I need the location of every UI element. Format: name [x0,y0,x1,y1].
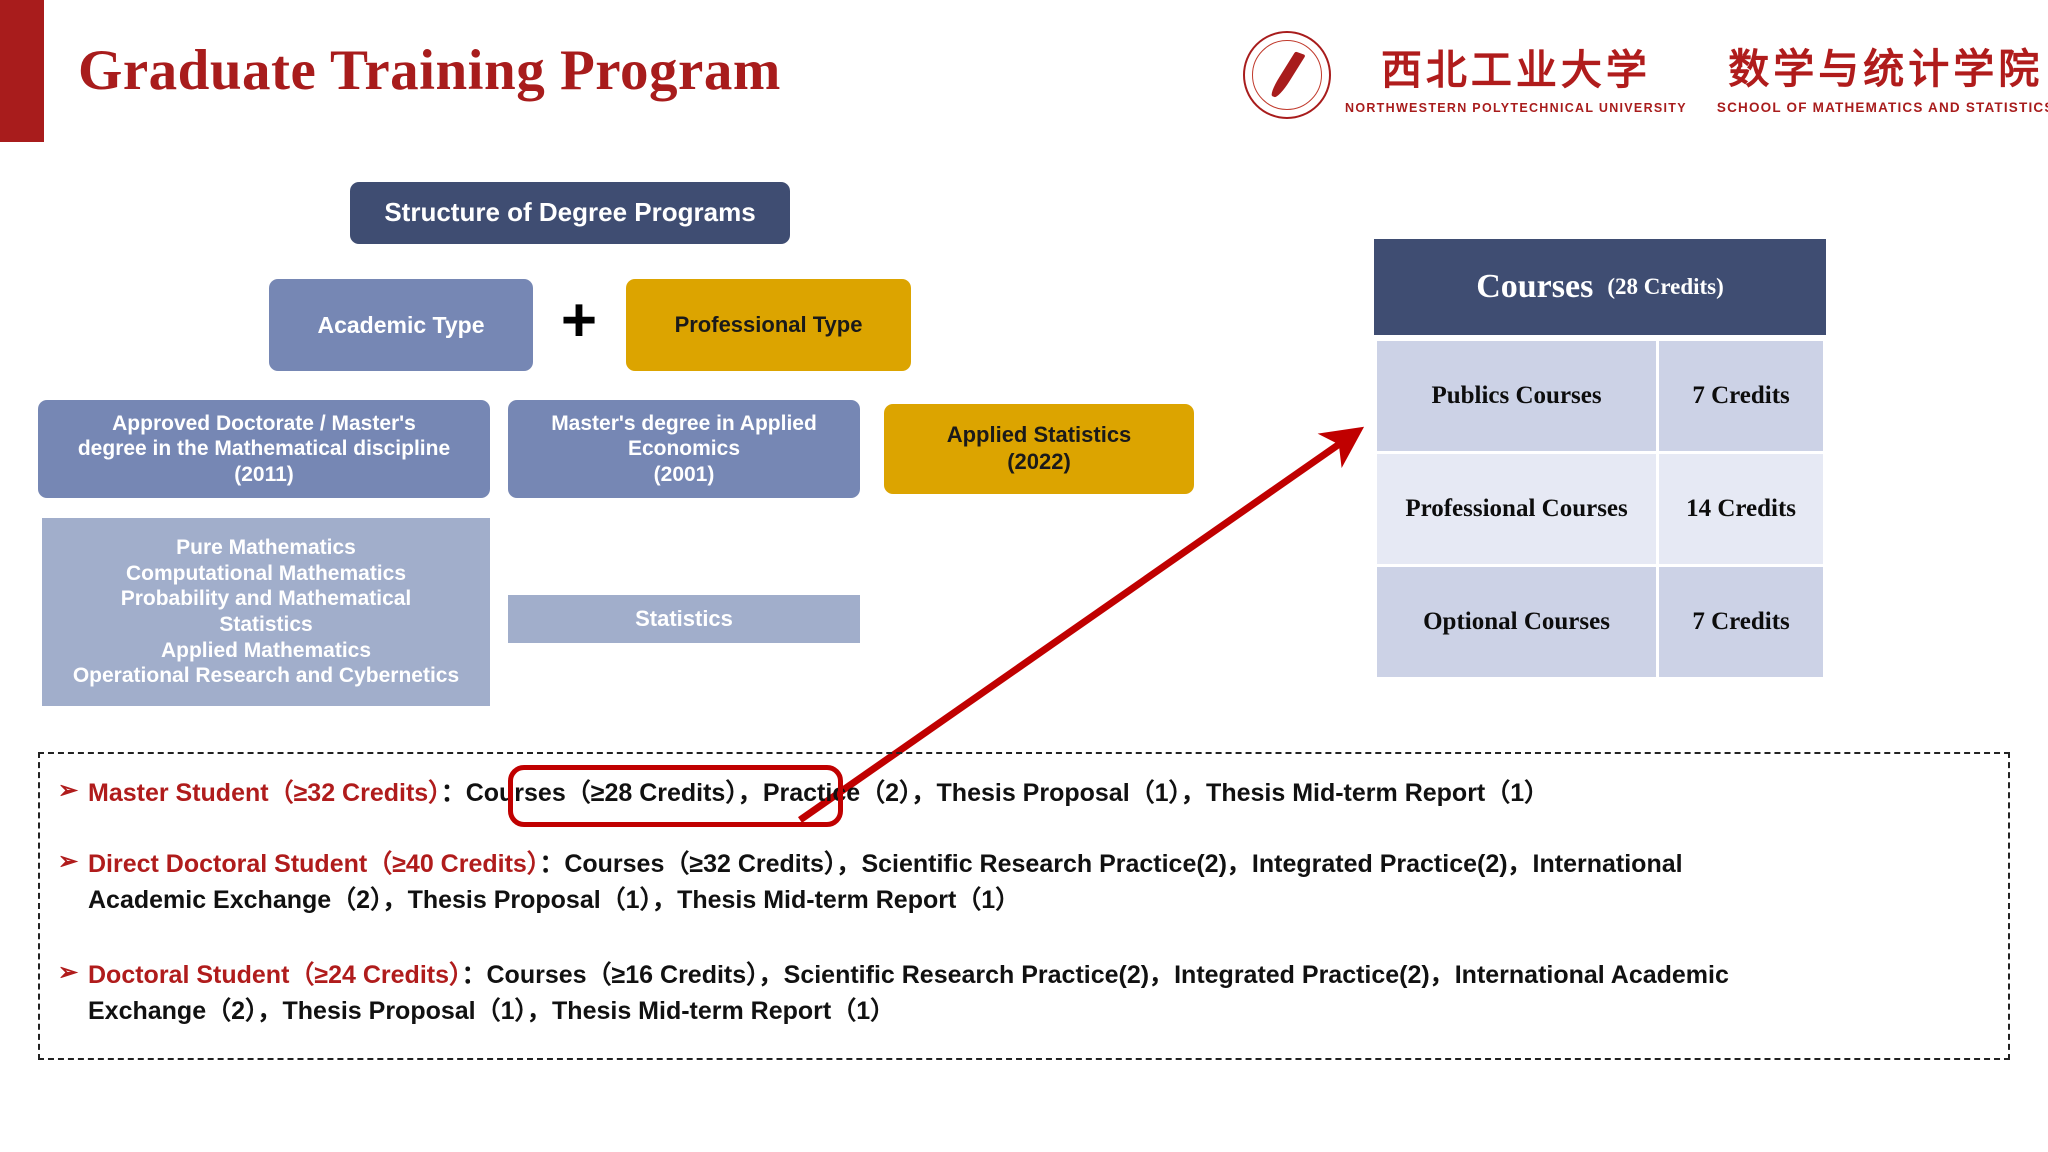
bullet-arrow-icon: ➢ [58,846,88,919]
requirement-detail: ：Courses（≥32 Credits），Scientific Researc… [539,850,1682,878]
requirement-item-direct-doctoral: ➢ Direct Doctoral Student（≥40 Credits）：C… [58,846,1958,919]
school-name-en: SCHOOL OF MATHEMATICS AND STATISTICS [1717,100,2048,115]
course-category: Optional Courses [1377,567,1656,677]
requirement-detail: ：Courses（≥16 Credits），Scientific Researc… [462,961,1729,989]
bullet-arrow-icon: ➢ [58,957,88,1030]
requirement-text: Doctoral Student（≥24 Credits）：Courses（≥1… [88,957,1729,1030]
branch-item: Computational Mathematics [42,561,490,587]
economics-line-1: Master's degree in Applied [551,411,817,437]
economics-line-3: (2001) [551,462,817,488]
approved-line-3: (2011) [78,462,450,488]
node-math-branches: Pure Mathematics Computational Mathemati… [42,518,490,706]
course-category: Professional Courses [1377,454,1656,564]
branch-item: Probability and Mathematical [42,586,490,612]
university-logo: 西北工业大学 NORTHWESTERN POLYTECHNICAL UNIVER… [1243,26,2033,124]
courses-title: Courses [1476,268,1593,306]
requirement-label: Doctoral Student（≥24 Credits） [88,961,462,989]
economics-line-2: Economics [551,436,817,462]
university-seal-icon [1243,31,1331,119]
course-credits: 14 Credits [1659,454,1823,564]
node-structure-of-degree-programs: Structure of Degree Programs [350,182,790,244]
courses-credits-total: (28 Credits) [1607,274,1723,300]
node-applied-economics: Master's degree in Applied Economics (20… [508,400,860,498]
node-statistics: Statistics [508,595,860,643]
left-accent-bar [0,0,44,142]
requirement-label: Direct Doctoral Student（≥40 Credits） [88,850,539,878]
requirement-item-master: ➢ Master Student（≥32 Credits）：Courses（≥2… [58,775,1958,811]
plus-icon: + [556,295,602,351]
table-row: Optional Courses 7 Credits [1377,567,1823,677]
slide: Graduate Training Program 西北工业大学 NORTHWE… [0,0,2048,1152]
bullet-arrow-icon: ➢ [58,775,88,811]
branch-item: Applied Mathematics [42,638,490,664]
requirement-detail-line2: Exchange（2），Thesis Proposal（1），Thesis Mi… [88,993,1729,1029]
table-row: Professional Courses 14 Credits [1377,454,1823,564]
courses-table-header: Courses (28 Credits) [1374,239,1826,335]
university-name-group: 西北工业大学 NORTHWESTERN POLYTECHNICAL UNIVER… [1345,36,1687,115]
school-name-cn: 数学与统计学院 [1728,35,2043,95]
requirement-label: Master Student（≥32 Credits） [88,779,441,807]
requirement-detail-line2: Academic Exchange（2），Thesis Proposal（1），… [88,882,1683,918]
approved-line-1: Approved Doctorate / Master's [78,411,450,437]
applied-statistics-line-2: (2022) [947,449,1132,476]
node-professional-type: Professional Type [626,279,911,371]
requirement-text: Direct Doctoral Student（≥40 Credits）：Cou… [88,846,1683,919]
node-applied-statistics: Applied Statistics (2022) [884,404,1194,494]
university-name-en: NORTHWESTERN POLYTECHNICAL UNIVERSITY [1345,101,1687,115]
highlight-courses-credits [508,765,843,827]
page-title: Graduate Training Program [78,38,781,103]
approved-line-2: degree in the Mathematical discipline [78,436,450,462]
node-approved-degrees: Approved Doctorate / Master's degree in … [38,400,490,498]
branch-item: Pure Mathematics [42,535,490,561]
requirement-item-doctoral: ➢ Doctoral Student（≥24 Credits）：Courses（… [58,957,1958,1030]
applied-statistics-line-1: Applied Statistics [947,422,1132,449]
courses-table: Courses (28 Credits) Publics Courses 7 C… [1374,239,1826,680]
branch-item: Statistics [42,612,490,638]
node-academic-type: Academic Type [269,279,533,371]
course-credits: 7 Credits [1659,567,1823,677]
branch-item: Operational Research and Cybernetics [42,663,490,689]
table-row: Publics Courses 7 Credits [1377,341,1823,451]
school-name-group: 数学与统计学院 SCHOOL OF MATHEMATICS AND STATIS… [1717,35,2048,115]
course-category: Publics Courses [1377,341,1656,451]
course-credits: 7 Credits [1659,341,1823,451]
university-name-cn: 西北工业大学 [1381,36,1651,96]
